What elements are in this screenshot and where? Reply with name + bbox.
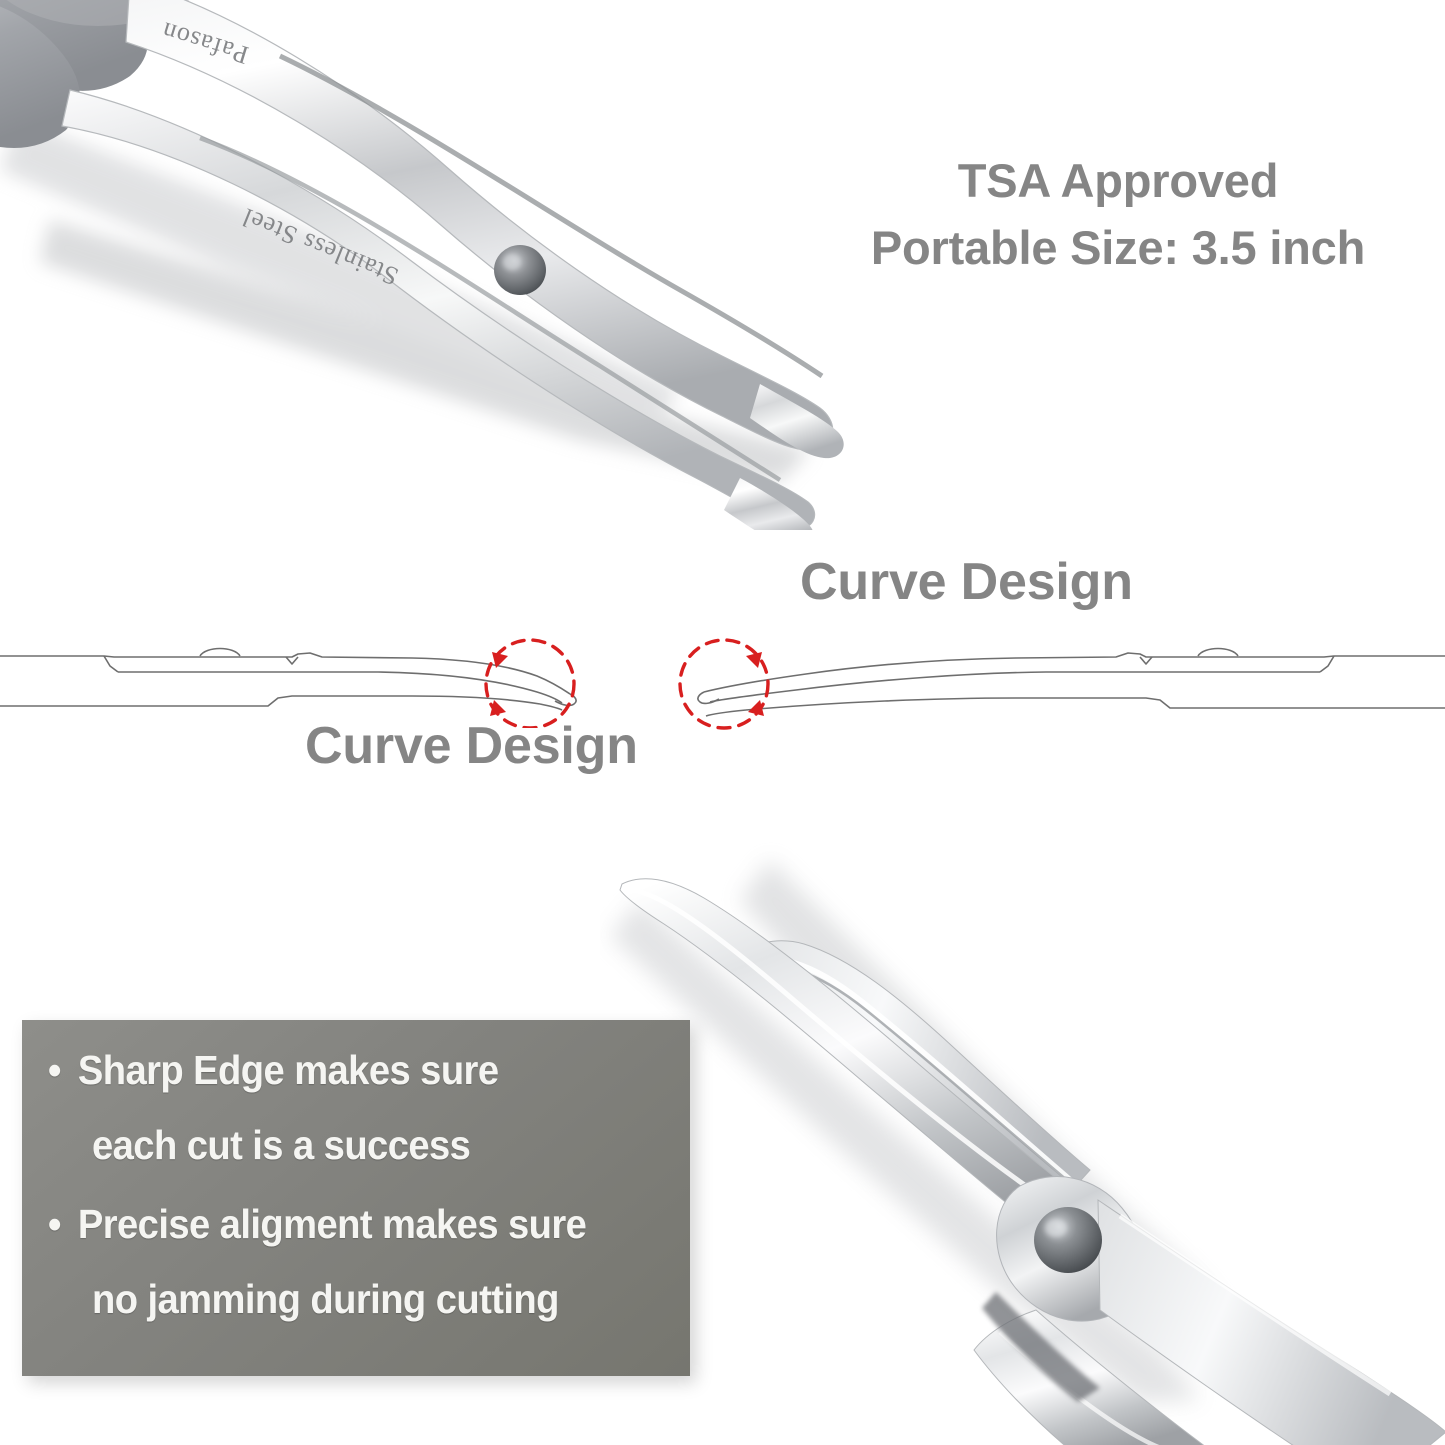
curve-highlight-circle-right [680,640,768,728]
scissors-photo-sharp-tip [600,840,1445,1445]
feature-2-line-1: Precise aligment makes sure [78,1201,586,1247]
curve-highlight-circle-left [486,640,574,728]
pivot-rivet-top [494,245,546,295]
feature-bullet-2: • Precise aligment makes sure no jamming… [48,1204,676,1320]
infographic-canvas: Pafason Stainless Steel TSA Approved Por… [0,0,1445,1445]
curve-design-label-left: Curve Design [305,716,638,776]
feature-1-line-2: each cut is a success [92,1125,635,1166]
feature-2-line-2: no jamming during cutting [92,1279,635,1320]
curve-design-label-right: Curve Design [800,552,1133,612]
curve-diagram-right [676,622,1445,737]
portable-size-line: Portable Size: 3.5 inch [838,215,1398,282]
feature-callout-box: • Sharp Edge makes sure each cut is a su… [22,1020,690,1376]
tsa-size-heading: TSA Approved Portable Size: 3.5 inch [838,148,1398,281]
bullet-marker-2: • [48,1204,68,1245]
scissors-blade-lower: Stainless Steel [62,90,815,530]
pivot-rivet-bottom [1034,1207,1102,1273]
feature-bullet-1: • Sharp Edge makes sure each cut is a su… [48,1050,676,1166]
bullet-marker-1: • [48,1050,68,1091]
scissors-photo-rounded-tip: Pafason Stainless Steel [0,0,920,535]
feature-1-line-1: Sharp Edge makes sure [78,1047,499,1093]
tsa-approved-line: TSA Approved [838,148,1398,215]
